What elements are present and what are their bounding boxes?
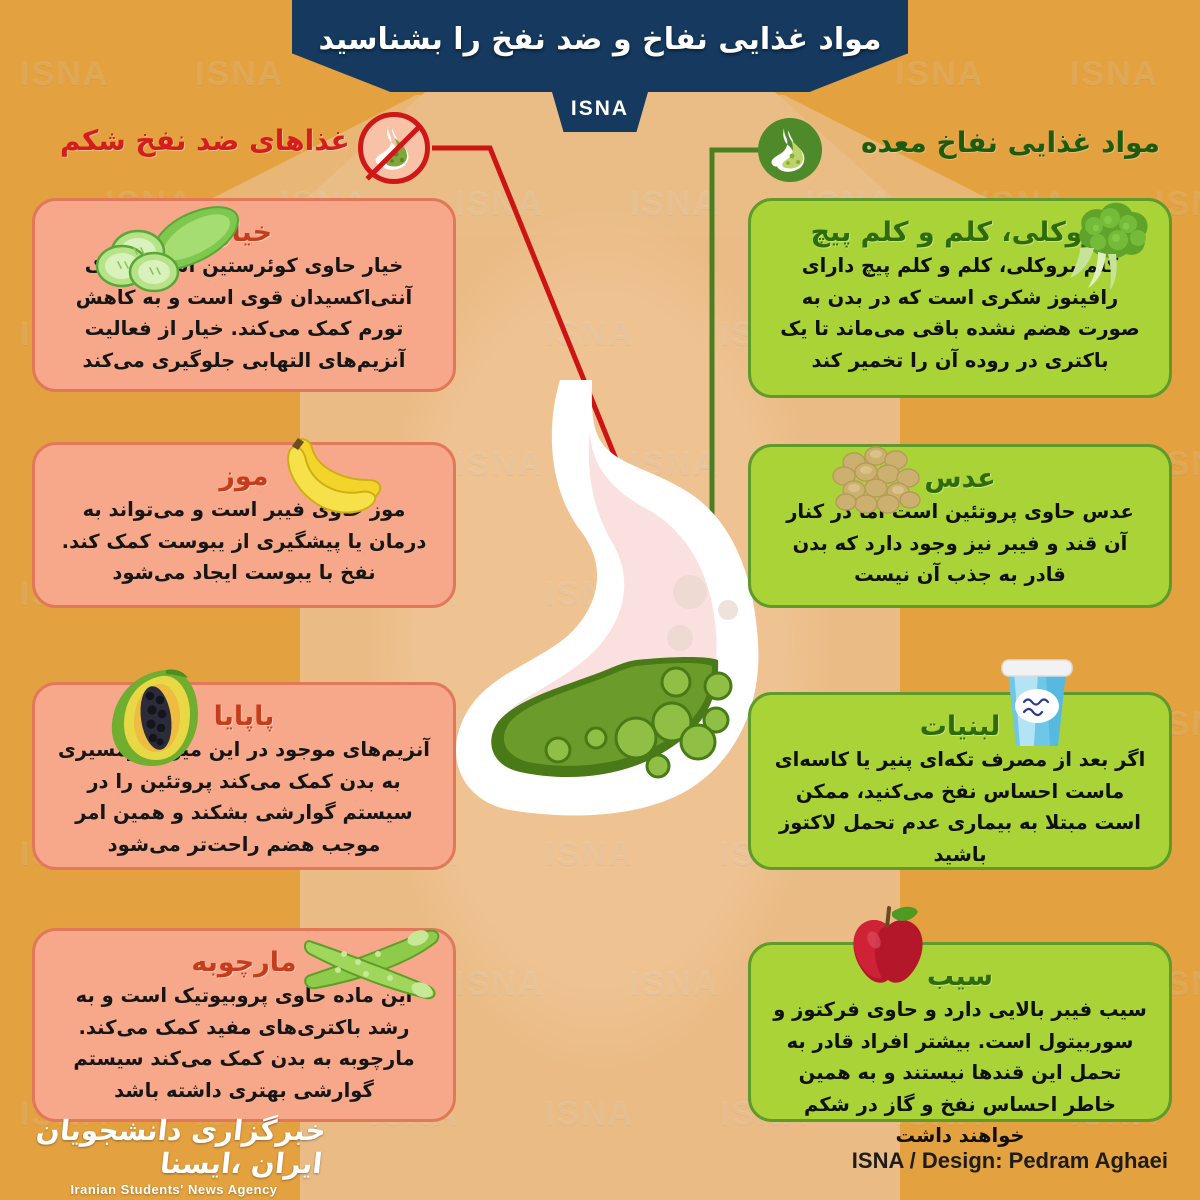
- isna-brand-tab: ISNA: [552, 92, 648, 132]
- card-body: خیار حاوی کوئرستین است که یک آنتی‌اکسیدا…: [57, 250, 431, 376]
- section-heading-bloating: مواد غذایی نفاخ معده: [861, 126, 1160, 159]
- card-title: لبنیات: [773, 711, 1147, 742]
- prohibition-ring-icon: [358, 112, 430, 184]
- card-title: خیار: [57, 217, 431, 248]
- card-apple[interactable]: سیب سیب فیبر بالایی دارد و حاوی فرکتوز و…: [748, 942, 1172, 1122]
- isna-logo-en: Iranian Students' News Agency: [70, 1182, 277, 1197]
- card-body: سیب فیبر بالایی دارد و حاوی فرکتوز و سور…: [773, 994, 1147, 1152]
- design-credit: ISNA / Design: Pedram Aghaei: [852, 1148, 1168, 1174]
- card-body: کلم بروکلی، کلم و کلم پیچ دارای رافینوز …: [773, 250, 1147, 376]
- card-banana[interactable]: موز موز حاوی فیبر است و می‌تواند به درما…: [32, 442, 456, 608]
- card-papaya[interactable]: پاپایا آنزیم‌های موجود در این میوه گرمسی…: [32, 682, 456, 870]
- card-asparagus[interactable]: مارچوبه این ماده حاوی پروبیوتیک است و به…: [32, 928, 456, 1122]
- card-body: اگر بعد از مصرف تکه‌ای پنیر یا کاسه‌ای م…: [773, 744, 1147, 870]
- section-heading-anti-bloating: غذاهای ضد نفخ شکم: [60, 124, 350, 157]
- isna-logo-fa: خبرگزاری دانشجویان ایران ،ایسنا: [21, 1114, 328, 1180]
- header-banner: مواد غذایی نفاخ و ضد نفخ را بشناسید: [292, 0, 908, 92]
- card-title: عدس: [773, 463, 1147, 494]
- card-body: آنزیم‌های موجود در این میوه گرمسیری به ب…: [57, 734, 431, 860]
- card-lentils[interactable]: عدس عدس حاوی پروتئین است اما در کنار آن …: [748, 444, 1172, 608]
- card-title: موز: [57, 461, 431, 492]
- card-body: عدس حاوی پروتئین است اما در کنار آن قند …: [773, 496, 1147, 591]
- card-body: این ماده حاوی پروبیوتیک است و به رشد باک…: [57, 980, 431, 1106]
- bloating-stomach-icon: [758, 118, 822, 182]
- card-broccoli[interactable]: بروکلی، کلم و کلم پیچ کلم بروکلی، کلم و …: [748, 198, 1172, 398]
- infographic-canvas: ISNAISNAISNAISNAISNAISNAISNAISNAISNAISNA…: [0, 0, 1200, 1200]
- card-title: سیب: [773, 961, 1147, 992]
- card-dairy[interactable]: لبنیات اگر بعد از مصرف تکه‌ای پنیر یا کا…: [748, 692, 1172, 870]
- card-title: بروکلی، کلم و کلم پیچ: [773, 217, 1147, 248]
- page-title: مواد غذایی نفاخ و ضد نفخ را بشناسید: [318, 22, 881, 71]
- card-title: پاپایا: [57, 701, 431, 732]
- card-title: مارچوبه: [57, 947, 431, 978]
- isna-logo: خبرگزاری دانشجویان ایران ،ایسنا Iranian …: [24, 1118, 324, 1192]
- card-cucumber[interactable]: خیار خیار حاوی کوئرستین است که یک آنتی‌ا…: [32, 198, 456, 392]
- card-body: موز حاوی فیبر است و می‌تواند به درمان یا…: [57, 494, 431, 589]
- isna-brand-label: ISNA: [571, 97, 629, 127]
